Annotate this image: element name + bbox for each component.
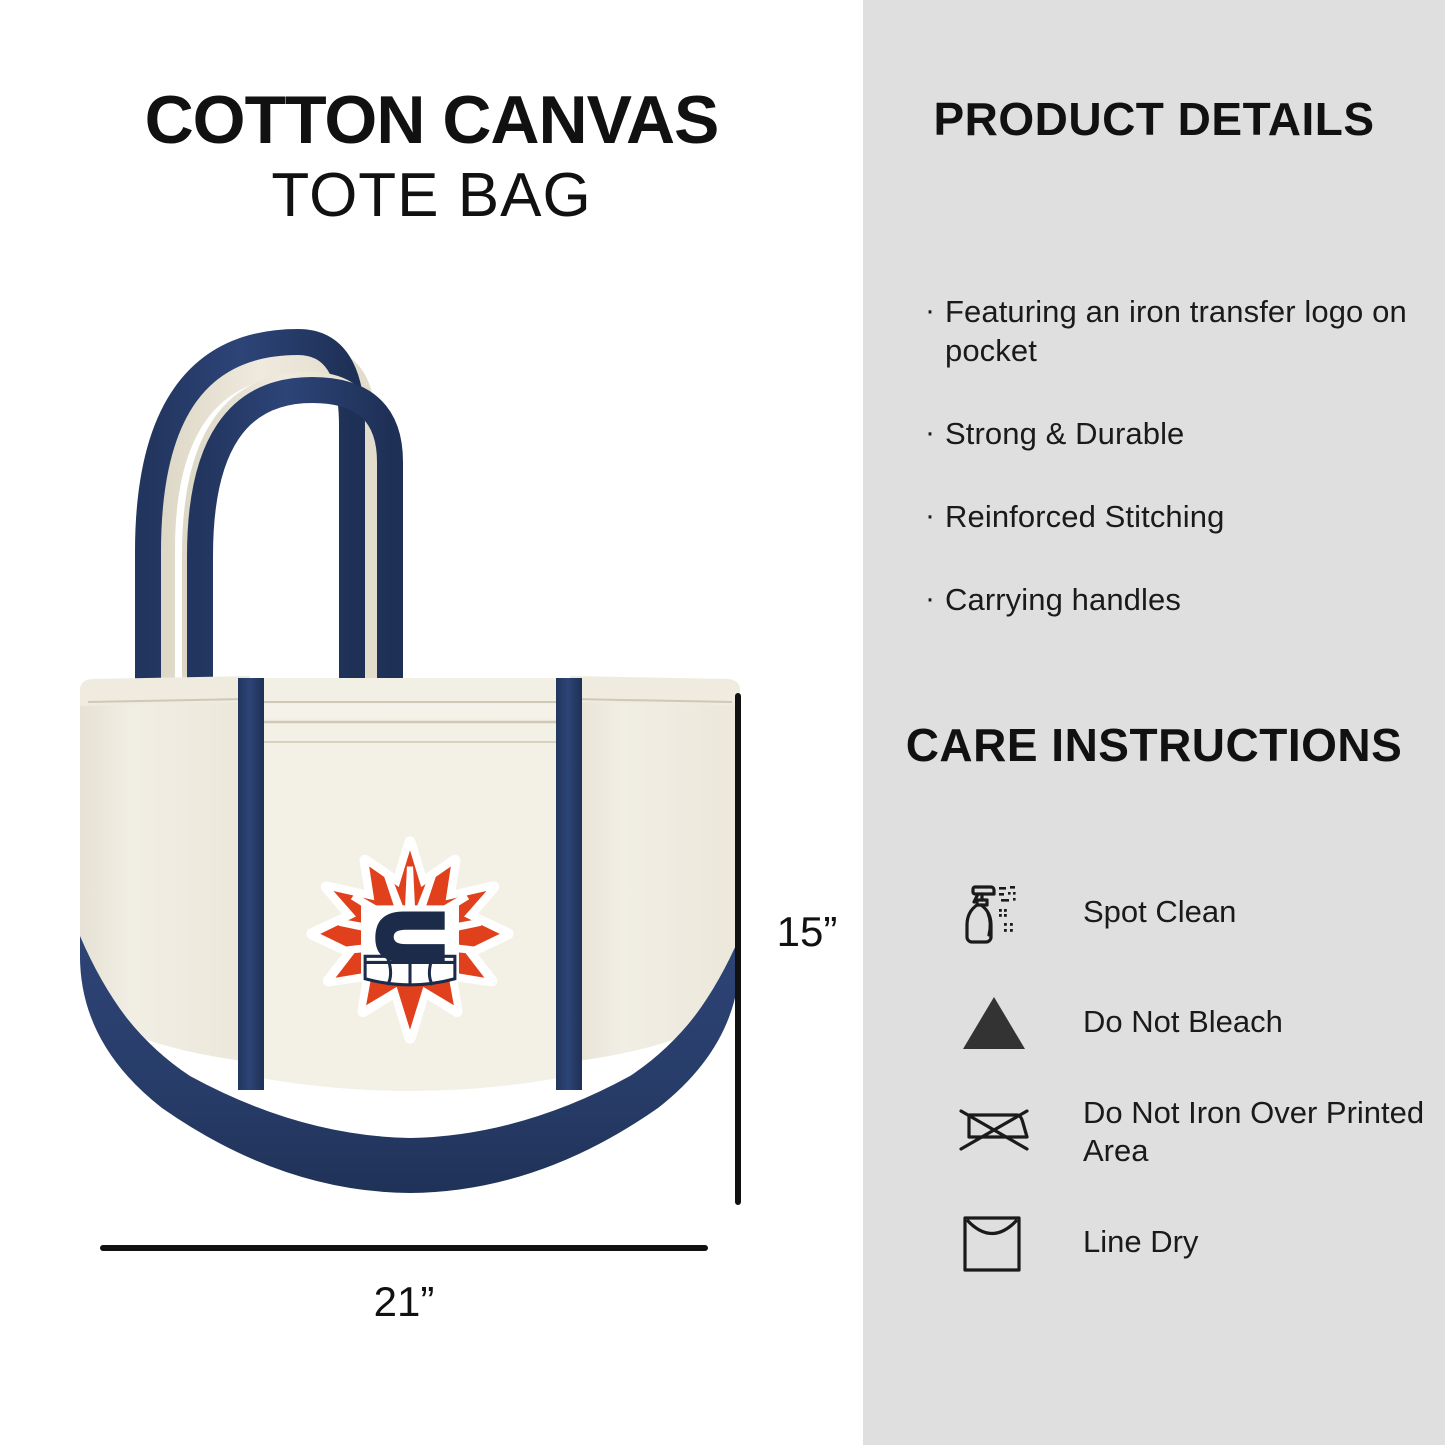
list-item-label: Featuring an iron transfer logo on pocke… <box>945 292 1415 370</box>
care-item-line-dry: Line Dry <box>955 1200 1425 1284</box>
care-instructions-heading: CARE INSTRUCTIONS <box>863 718 1445 772</box>
care-item-label: Line Dry <box>1083 1223 1425 1261</box>
list-item: · Featuring an iron transfer logo on poc… <box>925 292 1415 370</box>
do-not-iron-icon <box>955 1093 1083 1171</box>
bullet-marker-icon: · <box>925 414 945 452</box>
list-item: · Carrying handles <box>925 580 1415 619</box>
tote-bag-image <box>60 250 760 1250</box>
product-details-heading: PRODUCT DETAILS <box>863 92 1445 146</box>
care-instructions-list: Spot Clean Do Not Bleach Do No <box>955 870 1425 1310</box>
spray-bottle-icon <box>955 873 1083 951</box>
line-dry-icon <box>955 1203 1083 1281</box>
product-infographic: COTTON CANVAS TOTE BAG <box>0 0 1445 1445</box>
list-item-label: Strong & Durable <box>945 414 1415 453</box>
bullet-marker-icon: · <box>925 292 945 330</box>
height-dimension-line <box>735 693 741 1205</box>
care-item-spot-clean: Spot Clean <box>955 870 1425 954</box>
page-title-main: COTTON CANVAS <box>0 86 863 154</box>
list-item: · Reinforced Stitching <box>925 497 1415 536</box>
list-item-label: Reinforced Stitching <box>945 497 1415 536</box>
left-panel: COTTON CANVAS TOTE BAG <box>0 0 863 1445</box>
bullet-marker-icon: · <box>925 580 945 618</box>
care-item-do-not-bleach: Do Not Bleach <box>955 980 1425 1064</box>
list-item-label: Carrying handles <box>945 580 1415 619</box>
page-title-sub: TOTE BAG <box>0 165 863 227</box>
care-item-label: Do Not Iron Over Printed Area <box>1083 1094 1425 1170</box>
do-not-bleach-triangle-icon <box>955 983 1083 1061</box>
width-dimension-line <box>100 1245 708 1251</box>
product-details-list: · Featuring an iron transfer logo on poc… <box>925 292 1415 663</box>
care-item-do-not-iron: Do Not Iron Over Printed Area <box>955 1090 1425 1174</box>
care-item-label: Spot Clean <box>1083 893 1425 931</box>
list-item: · Strong & Durable <box>925 414 1415 453</box>
care-item-label: Do Not Bleach <box>1083 1003 1425 1041</box>
width-dimension-label: 21” <box>100 1278 708 1326</box>
bullet-marker-icon: · <box>925 497 945 535</box>
height-dimension-label: 15” <box>752 908 862 956</box>
